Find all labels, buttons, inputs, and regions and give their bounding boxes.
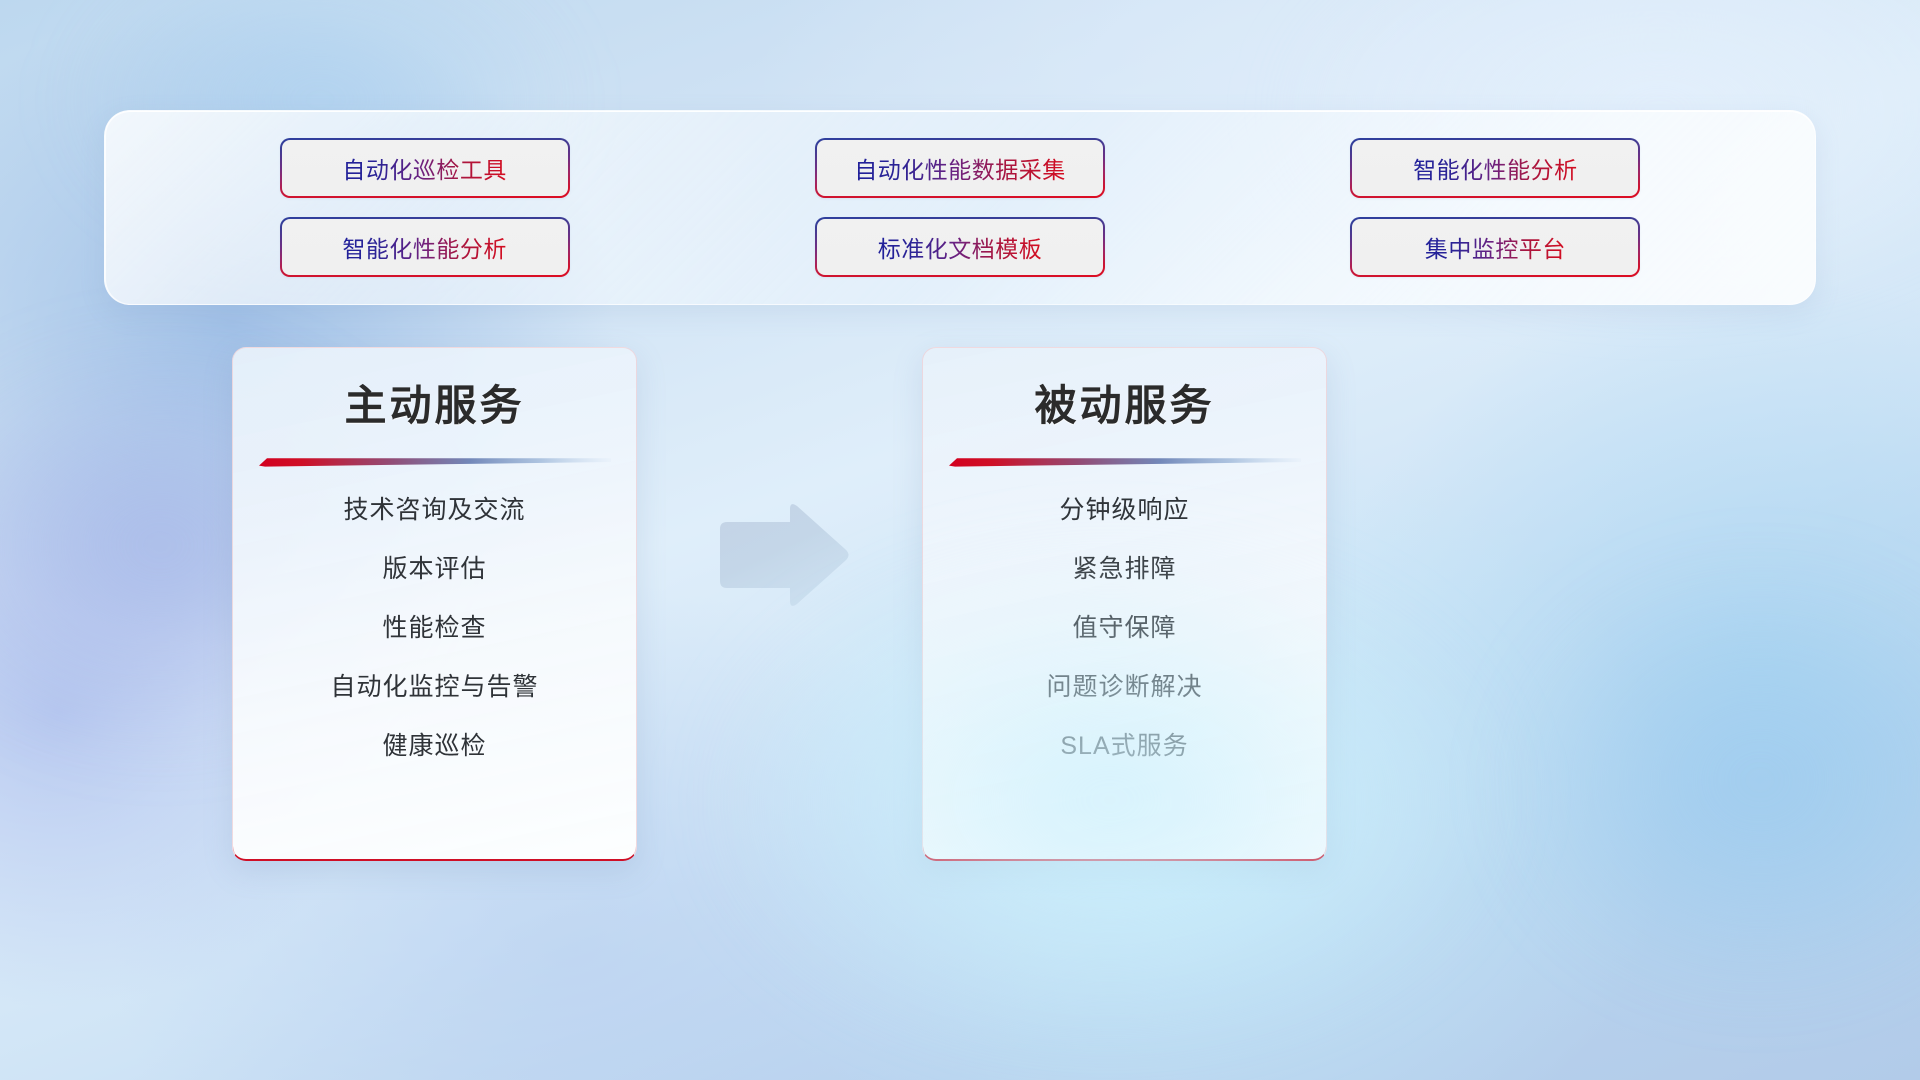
pill-label: 智能化性能分析 (1413, 151, 1578, 185)
pill-label: 智能化性能分析 (342, 230, 507, 264)
pill-label: 自动化性能数据采集 (854, 151, 1066, 185)
pill-slot-2: 自动化性能数据采集 (692, 138, 1227, 198)
capability-pill-intelligent-performance-analysis-bottom[interactable]: 智能化性能分析 (280, 217, 570, 277)
capability-pill-standardized-document-template[interactable]: 标准化文档模板 (815, 217, 1105, 277)
service-list-item: 问题诊断解决 (923, 675, 1326, 700)
capability-panel: 自动化巡检工具 自动化性能数据采集 智能化性能分析 智能化性能分析 标准化文档模… (104, 110, 1816, 305)
pill-slot-3: 智能化性能分析 (1228, 138, 1763, 198)
pill-slot-1: 自动化巡检工具 (157, 138, 692, 198)
service-list-item: 值守保障 (923, 616, 1326, 641)
service-list-item: 版本评估 (233, 557, 636, 582)
card-title: 被动服务 (923, 372, 1326, 433)
service-list-item: 紧急排障 (923, 557, 1326, 582)
service-list-item: 自动化监控与告警 (233, 675, 636, 700)
background-bloom-right (1500, 560, 1920, 1000)
service-item-list: 分钟级响应 紧急排障 值守保障 问题诊断解决 SLA式服务 (923, 468, 1326, 759)
service-list-item: 性能检查 (233, 616, 636, 641)
capability-pill-automated-inspection-tool[interactable]: 自动化巡检工具 (280, 138, 570, 198)
pill-slot-6: 集中监控平台 (1228, 217, 1763, 277)
card-title: 主动服务 (233, 372, 636, 433)
service-item-list: 技术咨询及交流 版本评估 性能检查 自动化监控与告警 健康巡检 (233, 468, 636, 759)
service-card-passive: 被动服务 分钟级响应 紧急排障 值守保障 (922, 347, 1327, 861)
card-divider (949, 457, 1301, 468)
pill-slot-5: 标准化文档模板 (692, 217, 1227, 277)
slide-canvas: 自动化巡检工具 自动化性能数据采集 智能化性能分析 智能化性能分析 标准化文档模… (0, 0, 1920, 1080)
service-list-item: 分钟级响应 (923, 498, 1326, 523)
service-list-item: SLA式服务 (923, 734, 1326, 759)
service-card-active: 主动服务 技术咨询及交流 版本评估 性能检查 (232, 347, 637, 861)
pill-label: 集中监控平台 (1425, 230, 1566, 264)
pill-slot-4: 智能化性能分析 (157, 217, 692, 277)
capability-pill-automated-performance-data-collection[interactable]: 自动化性能数据采集 (815, 138, 1105, 198)
capability-pill-intelligent-performance-analysis-top[interactable]: 智能化性能分析 (1350, 138, 1640, 198)
arrow-right-icon (712, 501, 852, 609)
capability-pill-centralized-monitoring-platform[interactable]: 集中监控平台 (1350, 217, 1640, 277)
service-list-item: 健康巡检 (233, 734, 636, 759)
pill-label: 自动化巡检工具 (342, 151, 507, 185)
card-divider (259, 457, 611, 468)
service-list-item: 技术咨询及交流 (233, 498, 636, 523)
pill-label: 标准化文档模板 (878, 230, 1043, 264)
